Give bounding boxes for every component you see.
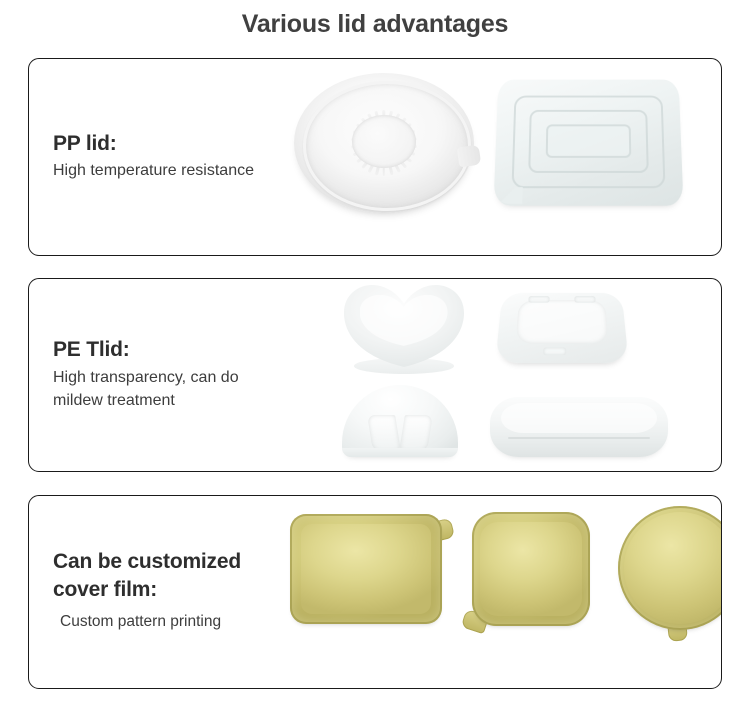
card-pe-lid-text: PE Tlid: High transparency, can do milde… (29, 338, 284, 412)
card-pp-lid-inner: PP lid: High temperature resistance (29, 59, 721, 255)
pp-rect-body (493, 80, 683, 206)
card-pe-lid-products (284, 279, 721, 471)
card-cover-film-text: Can be customized cover film: Custom pat… (29, 550, 284, 634)
product-gold-square-foil-lid (472, 512, 590, 626)
pe-dome-cross-right (399, 415, 433, 451)
pe-dome-cross-left (367, 415, 401, 451)
product-flat-oval-pe-lid (490, 397, 668, 457)
pe-square-notch-left (528, 296, 549, 303)
card-pe-lid-inner: PE Tlid: High transparency, can do milde… (29, 279, 721, 471)
pp-rect-rib-inner (546, 125, 632, 158)
product-rectangular-pp-lid (496, 77, 681, 205)
card-cover-film-heading-line1: Can be customized (53, 550, 284, 574)
pe-dome-body (342, 385, 458, 457)
gold-round-inner (624, 512, 722, 624)
product-heart-dome-pe-lid (344, 285, 464, 367)
product-gold-round-foil-lid (618, 506, 722, 630)
card-pe-lid-description-line2: mildew treatment (53, 389, 284, 412)
card-pp-lid-products (284, 59, 721, 255)
card-pp-lid-description: High temperature resistance (53, 159, 284, 182)
card-pe-lid-description-line1: High transparency, can do (53, 366, 284, 389)
card-cover-film-heading-line2: cover film: (53, 578, 284, 602)
pp-round-hub (352, 115, 417, 168)
product-square-dome-pe-lid (499, 287, 625, 365)
gold-rect-face (290, 514, 442, 624)
card-cover-film: Can be customized cover film: Custom pat… (28, 495, 722, 689)
product-round-ribbed-pp-lid (294, 73, 474, 213)
card-cover-film-description: Custom pattern printing (53, 611, 284, 633)
pe-oval-seam (508, 437, 650, 439)
page-title: Various lid advantages (0, 0, 750, 44)
pe-oval-top (501, 403, 658, 433)
card-pp-lid-heading: PP lid: (53, 132, 284, 156)
pe-dome-lip (342, 448, 458, 457)
card-pp-lid-text: PP lid: High temperature resistance (29, 132, 284, 183)
gold-square-face (472, 512, 590, 626)
card-cover-film-products (284, 496, 721, 688)
pe-oval-body (490, 397, 668, 457)
pe-square-notch-right (575, 296, 596, 303)
product-tall-round-dome-pe-lid (342, 385, 458, 457)
pp-rect-corner (496, 187, 523, 203)
card-pe-lid-heading: PE Tlid: (53, 338, 284, 362)
pe-square-top (515, 300, 608, 343)
pe-square-body (495, 293, 629, 363)
card-pp-lid: PP lid: High temperature resistance (28, 58, 722, 256)
product-gold-rectangular-foil-lid (290, 514, 442, 624)
gold-round-face (618, 506, 722, 630)
card-cover-film-inner: Can be customized cover film: Custom pat… (29, 496, 721, 688)
card-pe-lid: PE Tlid: High transparency, can do milde… (28, 278, 722, 472)
gold-rect-inner (301, 524, 432, 614)
gold-square-inner (480, 522, 582, 616)
pp-round-tab (457, 144, 482, 167)
pe-square-notch-front (544, 347, 567, 355)
